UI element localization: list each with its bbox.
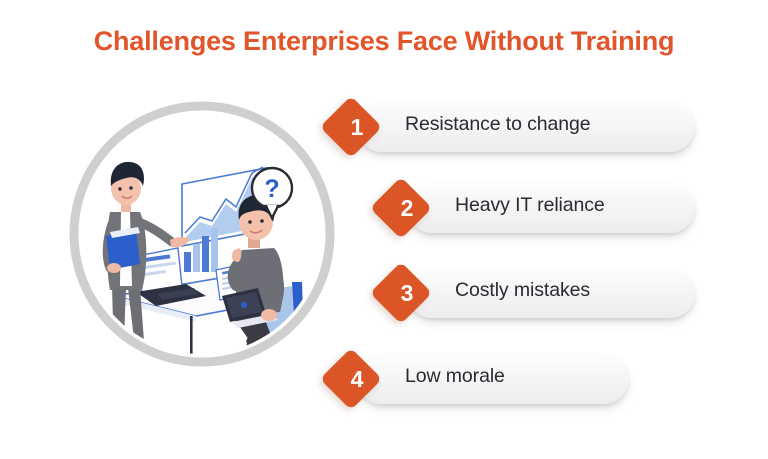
list-item-number: 4: [329, 351, 385, 407]
list-item-number: 3: [379, 265, 435, 321]
list-item-label: Costly mistakes: [455, 265, 590, 315]
list-item-label: Heavy IT reliance: [455, 180, 605, 230]
list-item-number: 2: [379, 180, 435, 236]
infographic-page: Challenges Enterprises Face Without Trai…: [0, 0, 768, 459]
list-item-label: Resistance to change: [405, 99, 591, 149]
list-item-number: 1: [329, 99, 385, 155]
list-item-label: Low morale: [405, 351, 505, 401]
challenges-list: 1 Resistance to change 2 Heavy IT relian…: [0, 0, 768, 459]
